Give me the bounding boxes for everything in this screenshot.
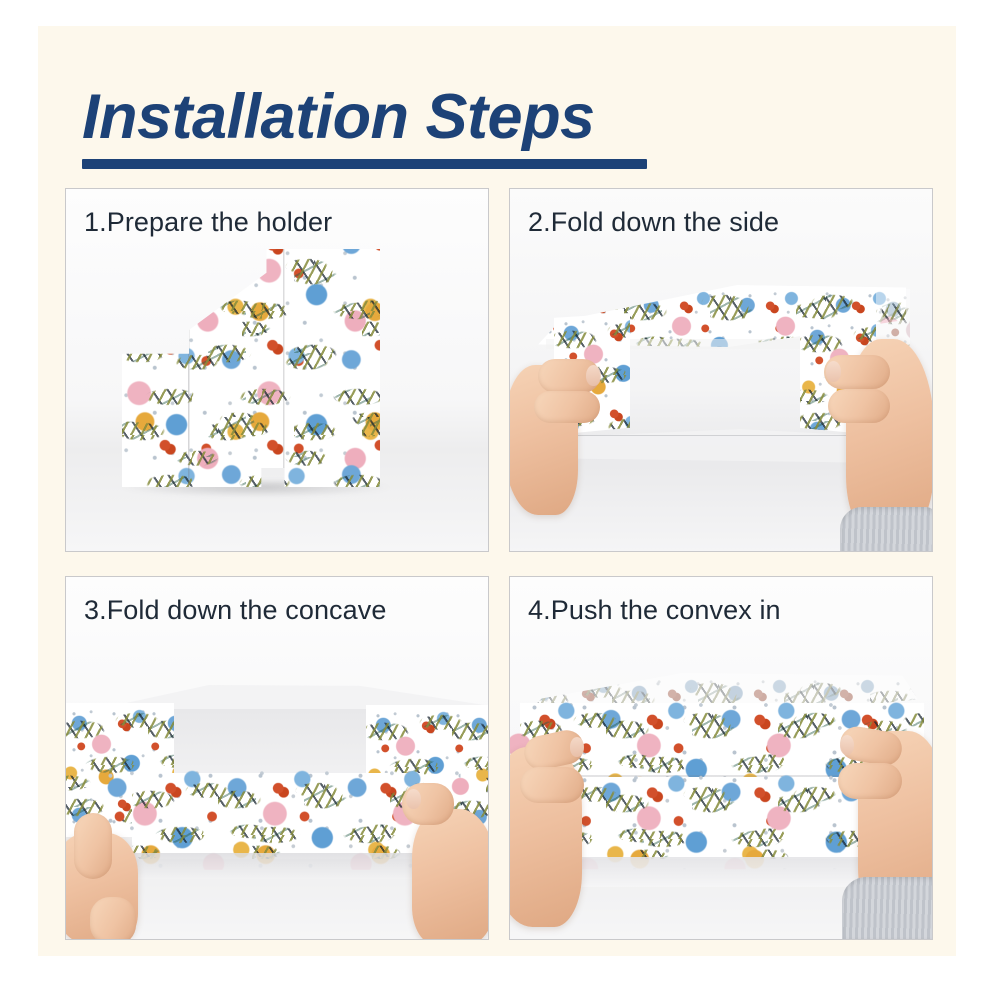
- step-caption-3: 3.Fold down the concave: [84, 595, 387, 626]
- step-3-photo: [66, 577, 488, 939]
- box-front-band: [132, 773, 424, 859]
- step-1-photo: [66, 189, 488, 551]
- step-4-photo: [510, 577, 932, 939]
- step-panel-2[interactable]: 2.Fold down the side: [509, 188, 933, 552]
- page-title: Installation Steps: [82, 86, 595, 149]
- title-underline-rule: [82, 159, 647, 169]
- step-caption-2: 2.Fold down the side: [528, 207, 779, 238]
- instruction-card: Installation Steps 1.Prepare the holder: [38, 26, 956, 956]
- step-2-photo: [510, 189, 932, 551]
- knit-sleeve: [840, 507, 933, 552]
- knit-sleeve: [842, 877, 933, 939]
- step-caption-1: 1.Prepare the holder: [84, 207, 332, 238]
- step-panel-3[interactable]: 3.Fold down the concave: [65, 576, 489, 940]
- surface-shadow-band: [90, 853, 450, 879]
- steps-grid: 1.Prepare the holder: [65, 188, 931, 938]
- screenshot-canvas: Installation Steps 1.Prepare the holder: [0, 0, 1000, 1000]
- step-panel-4[interactable]: 4.Push the convex in: [509, 576, 933, 940]
- step-panel-1[interactable]: 1.Prepare the holder: [65, 188, 489, 552]
- step-caption-4: 4.Push the convex in: [528, 595, 781, 626]
- box-bottom-flap-crease: [554, 435, 874, 436]
